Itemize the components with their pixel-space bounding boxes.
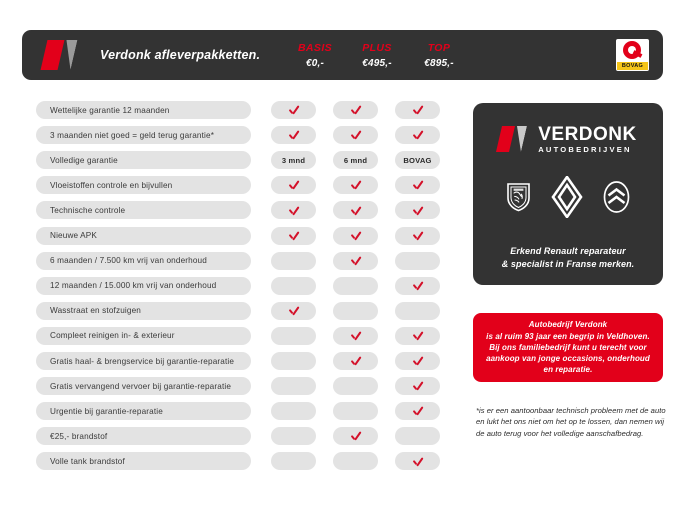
check-icon [412,104,424,116]
cell-top [395,201,440,219]
check-icon [350,430,362,442]
cell-plus [333,176,378,194]
header-package-name: BASIS [298,42,332,54]
feature-label: Technische controle [36,201,251,219]
feature-label: Wettelijke garantie 12 maanden [36,101,251,119]
cell-basis [271,201,316,219]
cell-basis [271,277,316,295]
cell-basis [271,176,316,194]
check-icon [288,230,300,242]
feature-label: Urgentie bij garantie-reparatie [36,402,251,420]
cell-basis [271,452,316,470]
cell-basis [271,227,316,245]
cell-value: 3 mnd [282,156,305,165]
cell-basis: 3 mnd [271,151,316,169]
cell-top [395,452,440,470]
header-package-price: €495,- [362,58,392,69]
feature-label: Nieuwe APK [36,227,251,245]
check-icon [412,179,424,191]
cell-plus [333,277,378,295]
brand-logo-row [473,175,663,219]
check-icon [412,355,424,367]
check-icon [350,204,362,216]
cell-basis [271,101,316,119]
check-icon [350,255,362,267]
logo-subtitle: AUTOBEDRIJVEN [538,145,637,155]
side-caption-line-2: & specialist in Franse merken. [473,258,663,271]
cell-plus [333,201,378,219]
cell-top [395,227,440,245]
bovag-badge-label: BOVAG [617,62,648,70]
page-title: Verdonk afleverpakketten. [100,30,260,80]
feature-label: €25,- brandstof [36,427,251,445]
check-icon [350,104,362,116]
cell-plus [333,402,378,420]
feature-label: 12 maanden / 15.000 km vrij van onderhou… [36,277,251,295]
header-package-name: PLUS [362,42,392,54]
feature-label: Gratis haal- & brengservice bij garantie… [36,352,251,370]
cell-basis [271,126,316,144]
check-icon [350,129,362,141]
verdonk-v-mark-icon [499,126,531,152]
check-icon [350,230,362,242]
cell-plus: 6 mnd [333,151,378,169]
check-icon [288,179,300,191]
feature-label: Gratis vervangend vervoer bij garantie-r… [36,377,251,395]
cell-top [395,277,440,295]
cell-basis [271,352,316,370]
cell-top: BOVAG [395,151,440,169]
cell-top [395,101,440,119]
cell-top [395,252,440,270]
check-icon [412,280,424,292]
cell-plus [333,327,378,345]
info-line-1: Autobedrijf Verdonk [529,320,608,329]
comparison-table-page: Verdonk afleverpakketten. BASIS €0,- PLU… [0,0,685,514]
cell-basis [271,377,316,395]
cell-plus [333,452,378,470]
cell-plus [333,427,378,445]
cell-top [395,427,440,445]
cell-top [395,402,440,420]
header-package-price: €0,- [306,58,324,69]
cell-plus [333,227,378,245]
feature-label: Volle tank brandstof [36,452,251,470]
info-box: Autobedrijf Verdonk is al ruim 93 jaar e… [473,313,663,382]
logo-wordmark: VERDONK [538,125,637,144]
cell-value: BOVAG [403,156,431,165]
cell-plus [333,352,378,370]
footnote: *is er een aantoonbaar technisch problee… [476,405,672,439]
feature-label: 3 maanden niet goed = geld terug garanti… [36,126,251,144]
cell-plus [333,302,378,320]
side-caption-line-1: Erkend Renault reparateur [473,245,663,258]
check-icon [288,204,300,216]
cell-top [395,377,440,395]
check-icon [412,330,424,342]
check-icon [350,355,362,367]
bovag-badge-icon: BOVAG [616,39,649,71]
check-icon [288,305,300,317]
cell-value: 6 mnd [344,156,367,165]
cell-top [395,302,440,320]
verdonk-v-mark-icon [44,40,82,70]
cell-plus [333,126,378,144]
peugeot-logo-icon [506,182,531,212]
info-line-2: is al ruim 93 jaar een begrip in Veldhov… [486,332,650,341]
cell-top [395,176,440,194]
feature-label: Vloeistoffen controle en bijvullen [36,176,251,194]
cell-top [395,352,440,370]
check-icon [412,380,424,392]
cell-plus [333,252,378,270]
info-line-5: en reparatie. [544,365,593,374]
cell-basis [271,327,316,345]
cell-top [395,327,440,345]
verdonk-autobedrijven-logo: VERDONK AUTOBEDRIJVEN [473,125,663,155]
citroen-logo-icon [603,181,630,213]
cell-plus [333,377,378,395]
header-bar: Verdonk afleverpakketten. BASIS €0,- PLU… [22,30,663,80]
feature-label: 6 maanden / 7.500 km vrij van onderhoud [36,252,251,270]
check-icon [412,129,424,141]
check-icon [412,204,424,216]
cell-basis [271,302,316,320]
cell-basis [271,402,316,420]
header-package-name: TOP [428,42,451,54]
cell-basis [271,252,316,270]
check-icon [350,330,362,342]
check-icon [350,179,362,191]
feature-label: Compleet reinigen in- & exterieur [36,327,251,345]
check-icon [412,455,424,467]
check-icon [412,405,424,417]
feature-label: Volledige garantie [36,151,251,169]
check-icon [412,230,424,242]
info-line-3: Bij ons familiebedrijf kunt u terecht vo… [489,343,647,352]
header-package-price: €895,- [424,58,454,69]
feature-label: Wasstraat en stofzuigen [36,302,251,320]
side-panel: VERDONK AUTOBEDRIJVEN Erkend Ren [473,103,663,285]
check-icon [288,129,300,141]
cell-top [395,126,440,144]
header-column-top: TOP €895,- [394,30,484,80]
renault-logo-icon [551,176,583,218]
side-panel-caption: Erkend Renault reparateur & specialist i… [473,245,663,271]
cell-plus [333,101,378,119]
check-icon [288,104,300,116]
info-line-4: aankoop van jonge occasions, onderhoud [486,354,650,363]
cell-basis [271,427,316,445]
